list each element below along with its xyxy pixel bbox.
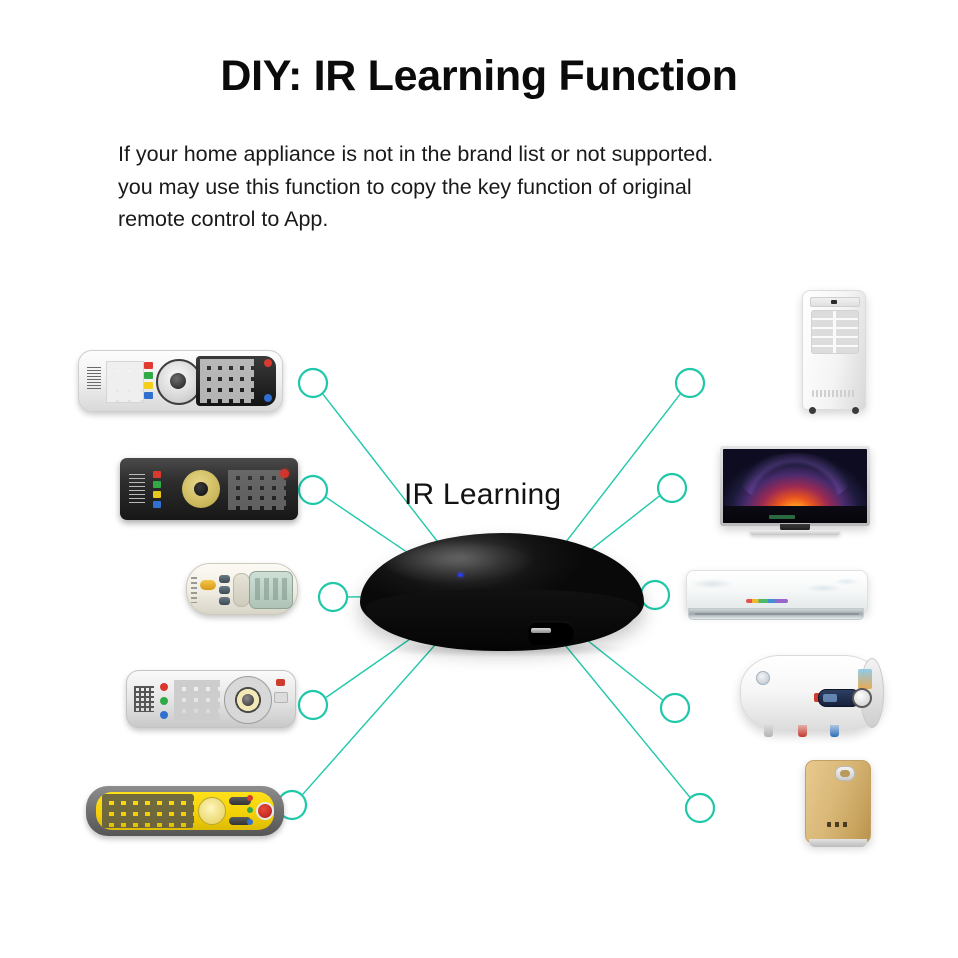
temp-down-button <box>219 597 230 605</box>
tv-screen <box>723 449 867 523</box>
color-button-green <box>144 372 153 379</box>
infographic-canvas: DIY: IR Learning Function If your home a… <box>0 0 958 958</box>
temp-up-button <box>219 575 230 583</box>
color-button-blue <box>247 819 253 825</box>
connector-node-silver-stb-remote[interactable] <box>299 691 327 719</box>
remote-vent <box>87 367 101 391</box>
remote-number-grid <box>174 680 220 720</box>
connector-node-black-av-remote[interactable] <box>299 476 327 504</box>
screen-landscape <box>723 506 867 523</box>
control-indicators <box>827 822 849 827</box>
color-button-yellow <box>153 491 161 498</box>
louver-vent <box>688 608 864 620</box>
status-led-icon <box>458 573 463 577</box>
television[interactable] <box>720 446 870 538</box>
color-button-blue <box>153 501 161 508</box>
hub-highlight <box>386 543 536 583</box>
power-button <box>200 580 216 590</box>
color-button-red <box>144 362 153 369</box>
air-intake-grill <box>812 390 856 397</box>
hub-drop-shadow <box>378 641 628 657</box>
fan-button <box>233 573 250 607</box>
remote-number-grid <box>228 470 286 510</box>
power-button <box>264 359 272 367</box>
connector-node-air-conditioner-remote[interactable] <box>319 583 347 611</box>
color-button-blue <box>160 711 168 719</box>
connector-node-portable-air-conditioner[interactable] <box>676 369 704 397</box>
caster-wheel <box>809 407 816 414</box>
water-heater[interactable] <box>740 655 882 741</box>
white-tv-remote[interactable] <box>78 350 283 412</box>
navigation-pad <box>198 797 226 825</box>
color-button-red <box>247 795 253 801</box>
mode-button <box>219 586 230 594</box>
connector-node-split-air-conditioner[interactable] <box>641 581 669 609</box>
louver-vent <box>811 310 859 354</box>
color-button-green <box>160 697 168 705</box>
remote-dpad <box>182 470 220 508</box>
air-conditioner-remote[interactable] <box>186 563 298 615</box>
yellow-universal-remote[interactable] <box>86 786 284 836</box>
color-button-red <box>160 683 168 691</box>
led-indicator-strip <box>746 599 788 603</box>
remote-vent <box>134 686 154 712</box>
navigation-wheel <box>224 676 272 724</box>
lcd-display <box>249 571 293 609</box>
color-button-green <box>247 807 253 813</box>
function-button <box>274 692 288 703</box>
hub-label: IR Learning <box>404 478 624 512</box>
hot-water-pipe <box>798 725 807 737</box>
decor-pattern <box>692 575 860 597</box>
control-panel <box>810 297 860 307</box>
power-button <box>276 679 285 686</box>
remote-vent <box>191 577 197 603</box>
split-air-conditioner[interactable] <box>686 570 866 628</box>
caster-wheel <box>852 407 859 414</box>
color-button-red <box>153 471 161 478</box>
outlet-pipe <box>764 725 773 737</box>
ir-blaster-hub[interactable] <box>360 533 644 659</box>
cold-water-pipe <box>830 725 839 737</box>
tv-stand-base <box>750 530 840 535</box>
energy-label <box>858 669 872 689</box>
power-button <box>256 802 274 820</box>
temperature-gauge <box>852 688 872 708</box>
connector-node-water-heater[interactable] <box>661 694 689 722</box>
color-button-yellow <box>144 382 153 389</box>
color-button-green <box>153 481 161 488</box>
air-purifier[interactable] <box>805 760 871 844</box>
portable-air-conditioner[interactable] <box>802 290 866 410</box>
color-button-blue <box>144 392 153 399</box>
remote-vent <box>129 474 145 504</box>
black-av-remote[interactable] <box>120 458 298 520</box>
carry-handle <box>835 766 855 781</box>
menu-button <box>264 394 272 402</box>
silver-stb-remote[interactable] <box>126 670 296 728</box>
remote-number-grid <box>102 794 194 828</box>
connector-node-air-purifier[interactable] <box>686 794 714 822</box>
connector-node-white-tv-remote[interactable] <box>299 369 327 397</box>
appliance-base <box>809 839 867 847</box>
connector-node-television[interactable] <box>658 474 686 502</box>
screen-aurora <box>740 453 849 505</box>
remote-number-grid <box>200 359 254 403</box>
remote-keypad <box>106 361 144 403</box>
tank-knob <box>756 671 770 685</box>
power-button <box>280 469 289 478</box>
